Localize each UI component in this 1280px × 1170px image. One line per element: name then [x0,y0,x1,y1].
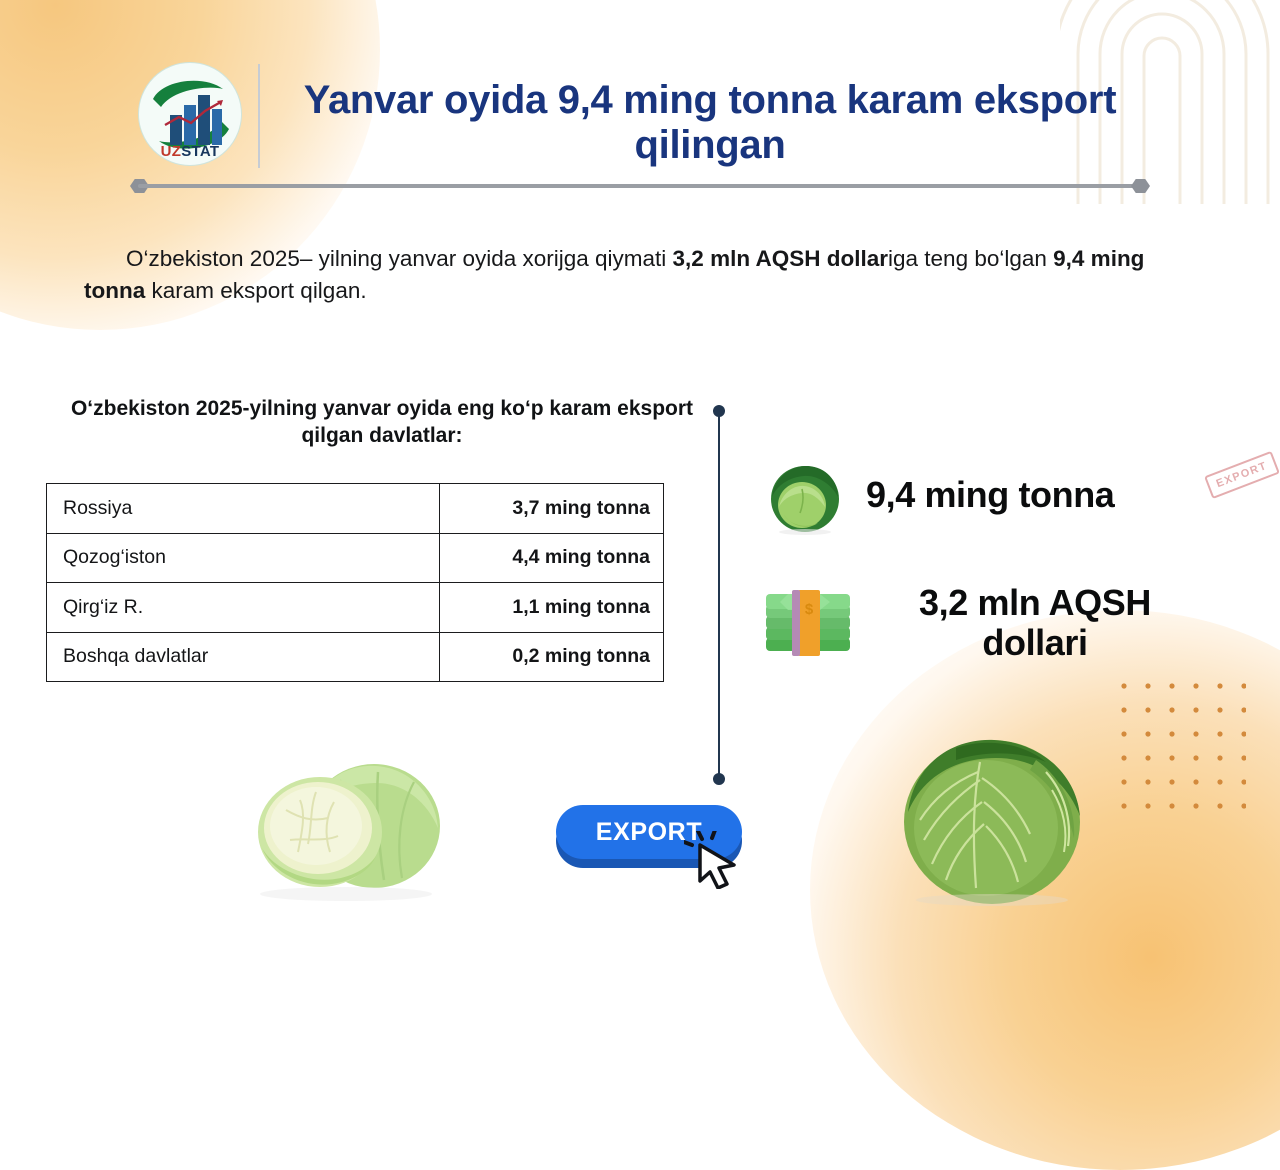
cabbage-half-image [228,752,448,902]
table-heading: O‘zbekiston 2025-yilning yanvar oyida en… [46,396,718,450]
divider-bar [138,184,1142,188]
table-cell-country: Qozog‘iston [47,533,440,583]
table-row: Qozog‘iston 4,4 ming tonna [47,533,664,583]
table-row: Qirg‘iz R. 1,1 ming tonna [47,583,664,633]
table-cell-country: Rossiya [47,484,440,534]
money-stack-icon: $ [758,580,862,666]
stat-money: $ 3,2 mln AQSH dollari [758,565,1198,680]
table-cell-amount: 1,1 ming tonna [440,583,664,633]
table-cell-amount: 4,4 ming tonna [440,533,664,583]
table-row: Boshqa davlatlar 0,2 ming tonna [47,632,664,682]
connector-stem [718,411,720,779]
uzstat-logo: UZSTAT [138,62,242,166]
table-cell-amount: 3,7 ming tonna [440,484,664,534]
export-stamp-icon: EXPORT [1204,451,1279,499]
intro-bold-value: 3,2 mln AQSH dollar [673,246,888,271]
stat-money-value: 3,2 mln AQSH dollari [880,583,1190,662]
page-header: UZSTAT Yanvar oyida 9,4 ming tonna karam… [0,0,1280,215]
cursor-pointer-icon [684,831,750,889]
stat-tonnage-value: 9,4 ming tonna [866,475,1114,515]
logo-text-uz: UZ [161,143,182,160]
dot-grid-decoration [1118,680,1246,850]
intro-paragraph: O‘zbekiston 2025– yilning yanvar oyida x… [84,243,1189,307]
table-cell-country: Boshqa davlatlar [47,632,440,682]
table-cell-country: Qirg‘iz R. [47,583,440,633]
export-countries-table: Rossiya 3,7 ming tonna Qozog‘iston 4,4 m… [46,483,664,682]
header-vertical-rule [258,64,260,168]
page-title: Yanvar oyida 9,4 ming tonna karam ekspor… [300,78,1120,168]
intro-text-part2: iga teng bo‘lgan [888,246,1053,271]
intro-text-part3: karam eksport qilgan. [145,278,366,303]
logo-wordmark: UZSTAT [138,144,242,159]
connector-dot-bottom [713,773,725,785]
cabbage-whole-image [896,728,1092,906]
vertical-connector-line [712,404,726,786]
table-cell-amount: 0,2 ming tonna [440,632,664,682]
header-divider [130,179,1150,193]
table-row: Rossiya 3,7 ming tonna [47,484,664,534]
stat-tonnage: 9,4 ming tonna [762,447,1192,542]
svg-text:$: $ [805,601,814,618]
export-button-group[interactable]: EXPORT [556,805,752,877]
cabbage-icon [762,455,848,535]
table-body: Rossiya 3,7 ming tonna Qozog‘iston 4,4 m… [47,484,664,682]
logo-text-stat: STAT [181,143,219,160]
divider-cap-right [1131,179,1150,193]
intro-text-part1: O‘zbekiston 2025– yilning yanvar oyida x… [126,246,673,271]
